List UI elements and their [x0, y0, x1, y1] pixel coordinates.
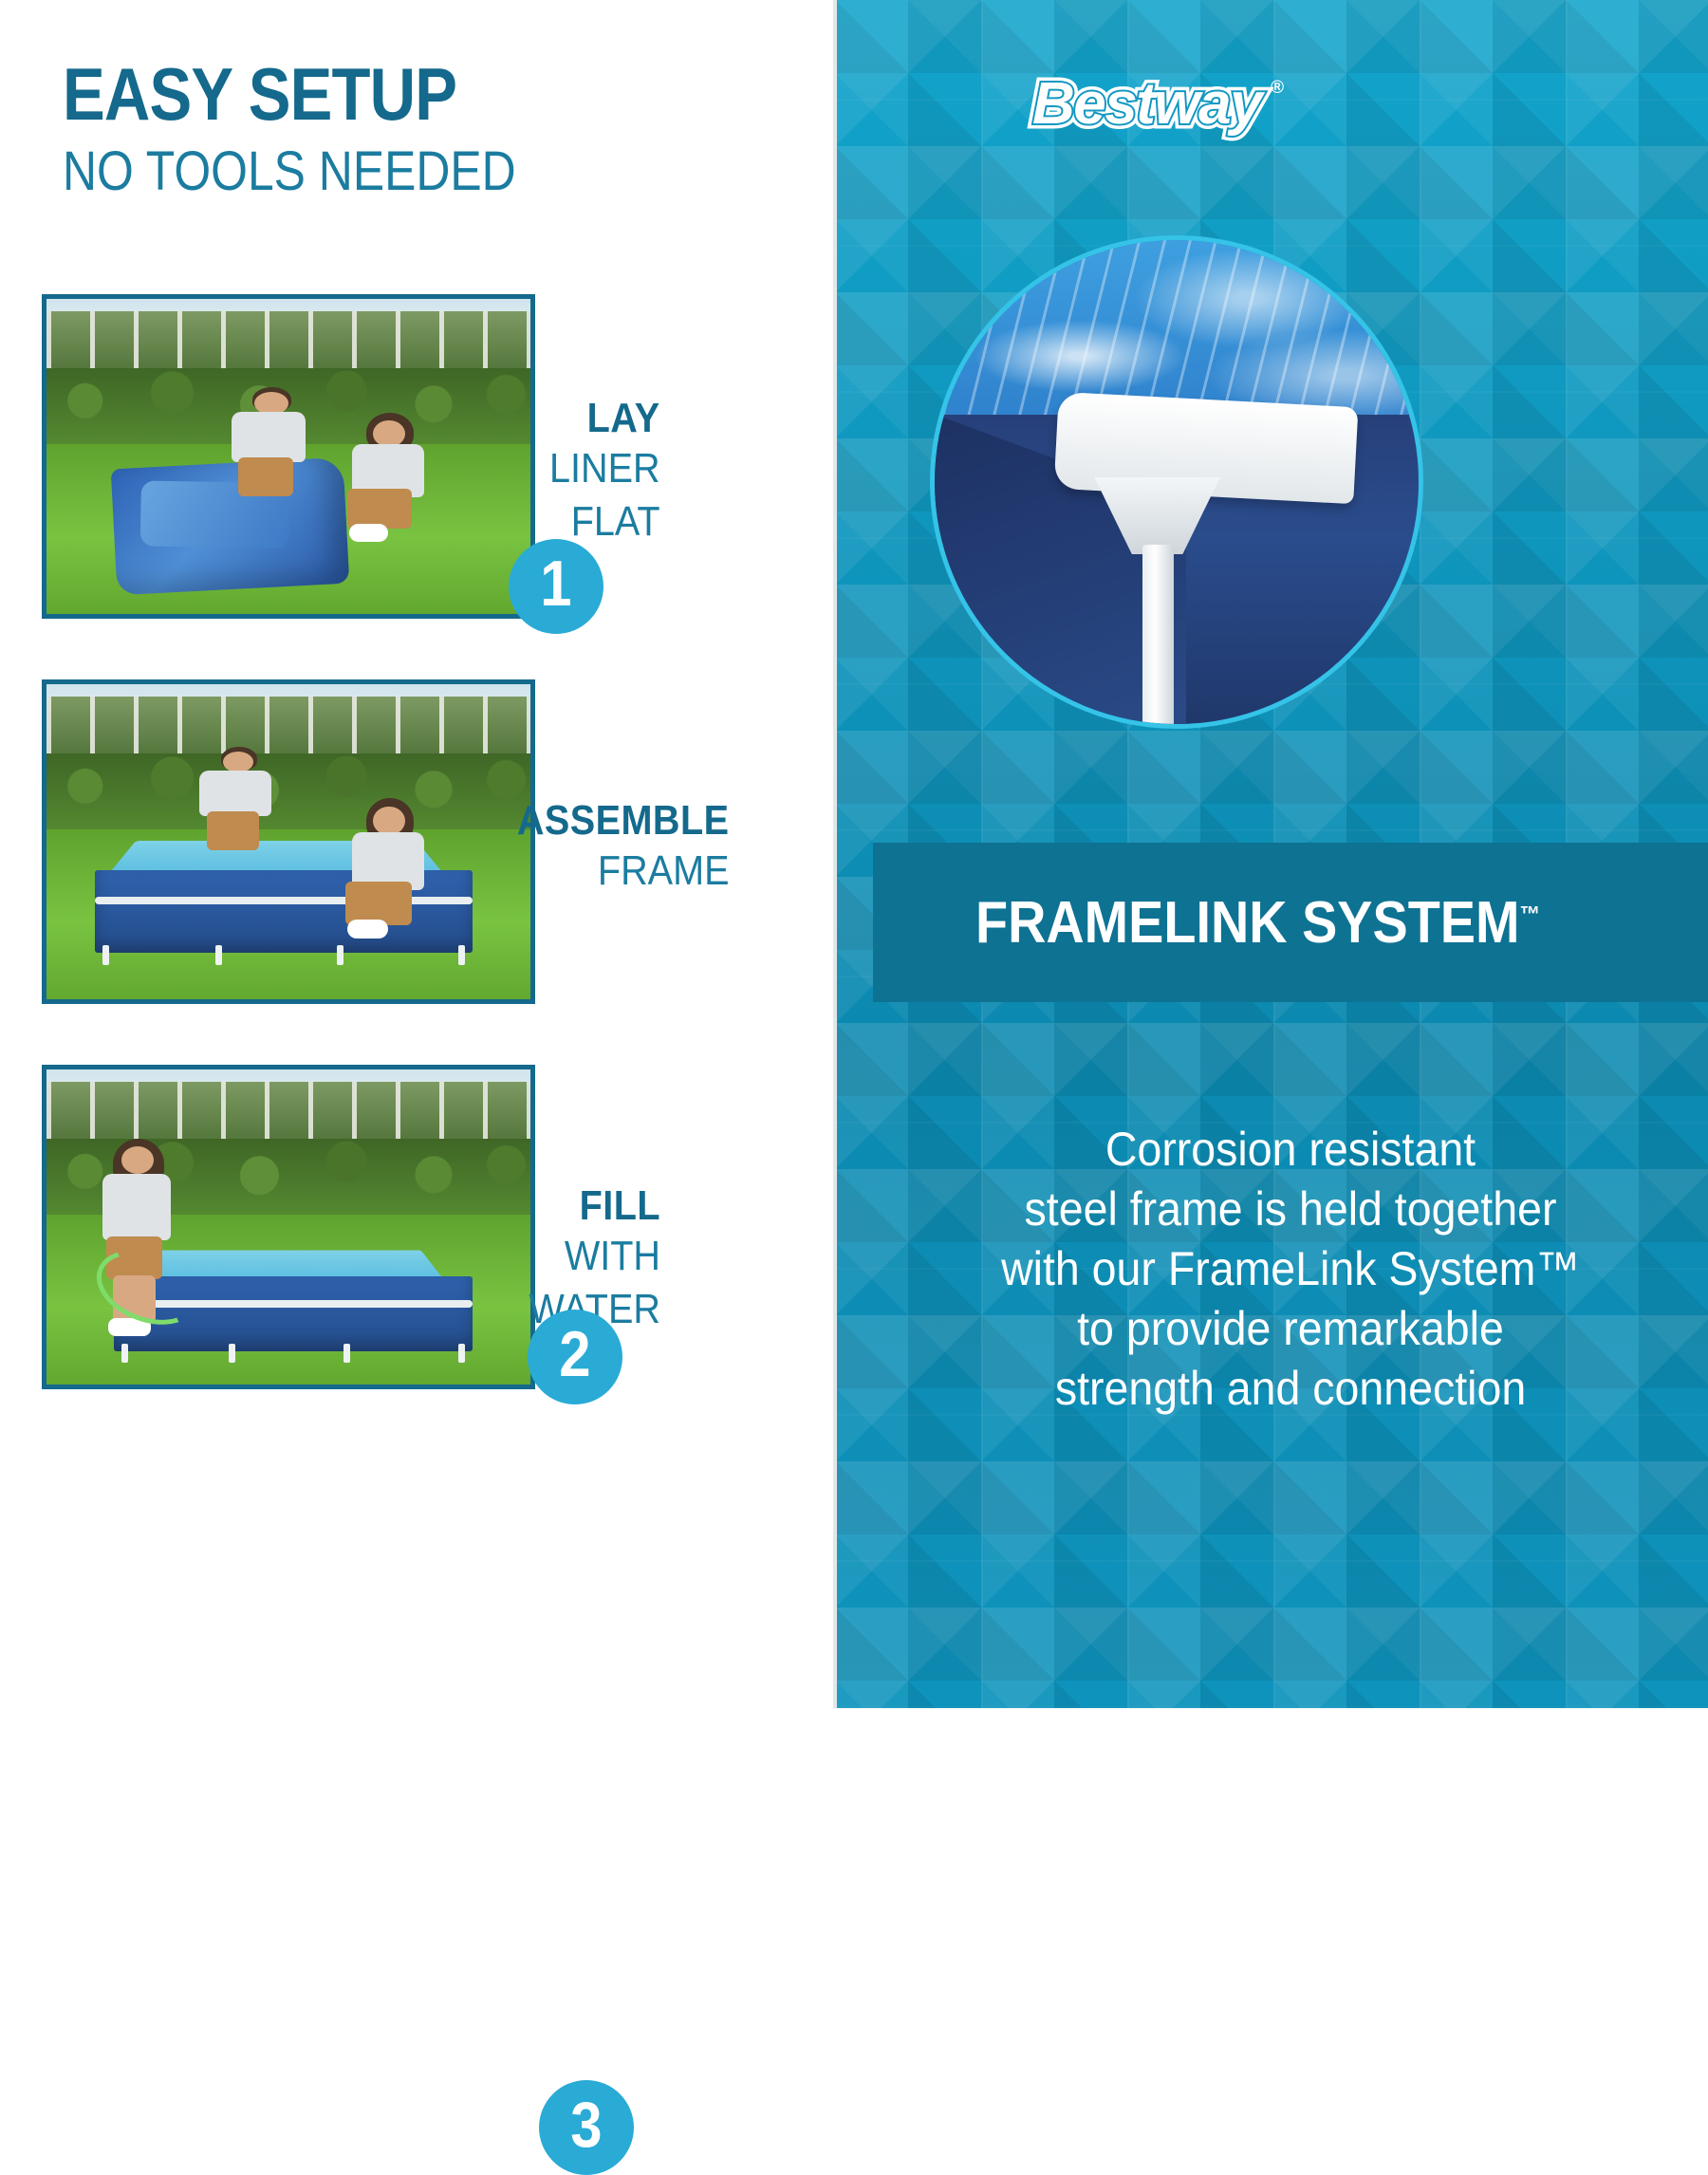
bestway-logo: Bestway Bestway ® — [1032, 70, 1317, 140]
logo-wordmark: Bestway — [1032, 71, 1261, 137]
headings-group: EASY SETUP NO TOOLS NEEDED — [63, 59, 784, 202]
photo-person-woman — [337, 413, 443, 545]
registered-mark-icon: ® — [1271, 78, 1284, 99]
photo-person-woman — [337, 798, 443, 943]
step-item-1: 1 LAY LINER FLAT — [42, 285, 801, 619]
step-1-label-group: LAY LINER FLAT — [537, 395, 660, 549]
step-1-label-bold: LAY — [549, 395, 660, 442]
photo-person-man — [221, 387, 327, 501]
step-2-label-line2: FRAME — [516, 845, 729, 898]
step-item-2: 2 ASSEMBLE FRAME — [42, 670, 801, 1004]
step-3-photo — [42, 1065, 535, 1389]
step-item-3: 3 FILL WITH WATER — [42, 1055, 801, 1389]
framelink-title-text: FRAMELINK SYSTEM — [975, 890, 1520, 956]
framelink-connector-photo — [930, 235, 1423, 729]
step-2-label-bold: ASSEMBLE — [516, 797, 729, 845]
left-panel-easy-setup: EASY SETUP NO TOOLS NEEDED — [0, 0, 835, 1708]
step-2-label-group: ASSEMBLE FRAME — [493, 797, 729, 898]
page-title: EASY SETUP — [63, 59, 683, 130]
infographic-page: EASY SETUP NO TOOLS NEEDED — [0, 0, 1708, 1708]
photo-frame-leg — [1142, 545, 1174, 729]
photo-person-man — [192, 747, 288, 854]
page-subtitle: NO TOOLS NEEDED — [63, 141, 683, 202]
description-line-1: Corrosion resistant — [919, 1120, 1661, 1180]
step-1-photo — [42, 294, 535, 619]
framelink-title: FRAMELINK SYSTEM™ — [975, 889, 1540, 957]
framelink-description: Corrosion resistant steel frame is held … — [892, 1120, 1689, 1419]
step-3-label-bold: FILL — [529, 1182, 660, 1230]
trademark-icon: ™ — [1520, 902, 1541, 927]
description-line-2: steel frame is held together — [919, 1180, 1661, 1239]
framelink-title-band: FRAMELINK SYSTEM™ — [873, 843, 1708, 1002]
description-line-3: with our FrameLink System™ — [919, 1239, 1661, 1299]
step-1-label-line2: LINER — [549, 442, 660, 495]
step-3-number-badge: 3 — [539, 2080, 634, 2175]
step-3-label-line2: WITH — [529, 1230, 660, 1283]
step-2-number-badge: 2 — [528, 1310, 622, 1404]
description-line-5: strength and connection — [919, 1359, 1661, 1419]
panel-divider — [833, 0, 837, 1708]
step-1-number-badge: 1 — [509, 539, 603, 634]
step-2-photo — [42, 679, 535, 1004]
description-line-4: to provide remarkable — [919, 1299, 1661, 1359]
